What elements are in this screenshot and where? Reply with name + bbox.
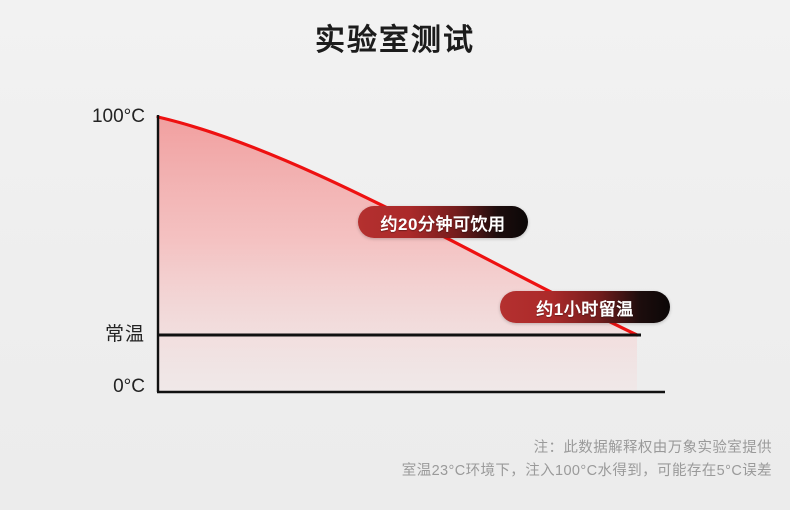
chart-plot-area: 100°C 常温 0°C 约20分钟可饮用 约1小时留温 bbox=[0, 0, 790, 510]
y-axis-label-0c: 0°C bbox=[30, 376, 145, 398]
temperature-curve-svg bbox=[0, 0, 790, 510]
y-axis-label-100c: 100°C bbox=[30, 106, 145, 128]
lab-test-chart-page: 实验室测试 100°C 常温 0°C 约20分钟可饮 bbox=[0, 0, 790, 510]
curve-fill-area bbox=[158, 117, 637, 392]
annotation-badge-drinkable: 约20分钟可饮用 bbox=[358, 206, 528, 238]
y-axis-label-room-temperature: 常温 bbox=[30, 324, 145, 346]
footnote-conditions: 室温23°C环境下，注入100°C水得到，可能存在5°C误差 bbox=[402, 461, 772, 482]
footnote-disclaimer: 注：此数据解释权由万象实验室提供 bbox=[534, 438, 772, 459]
annotation-badge-warm-retention: 约1小时留温 bbox=[500, 291, 670, 323]
